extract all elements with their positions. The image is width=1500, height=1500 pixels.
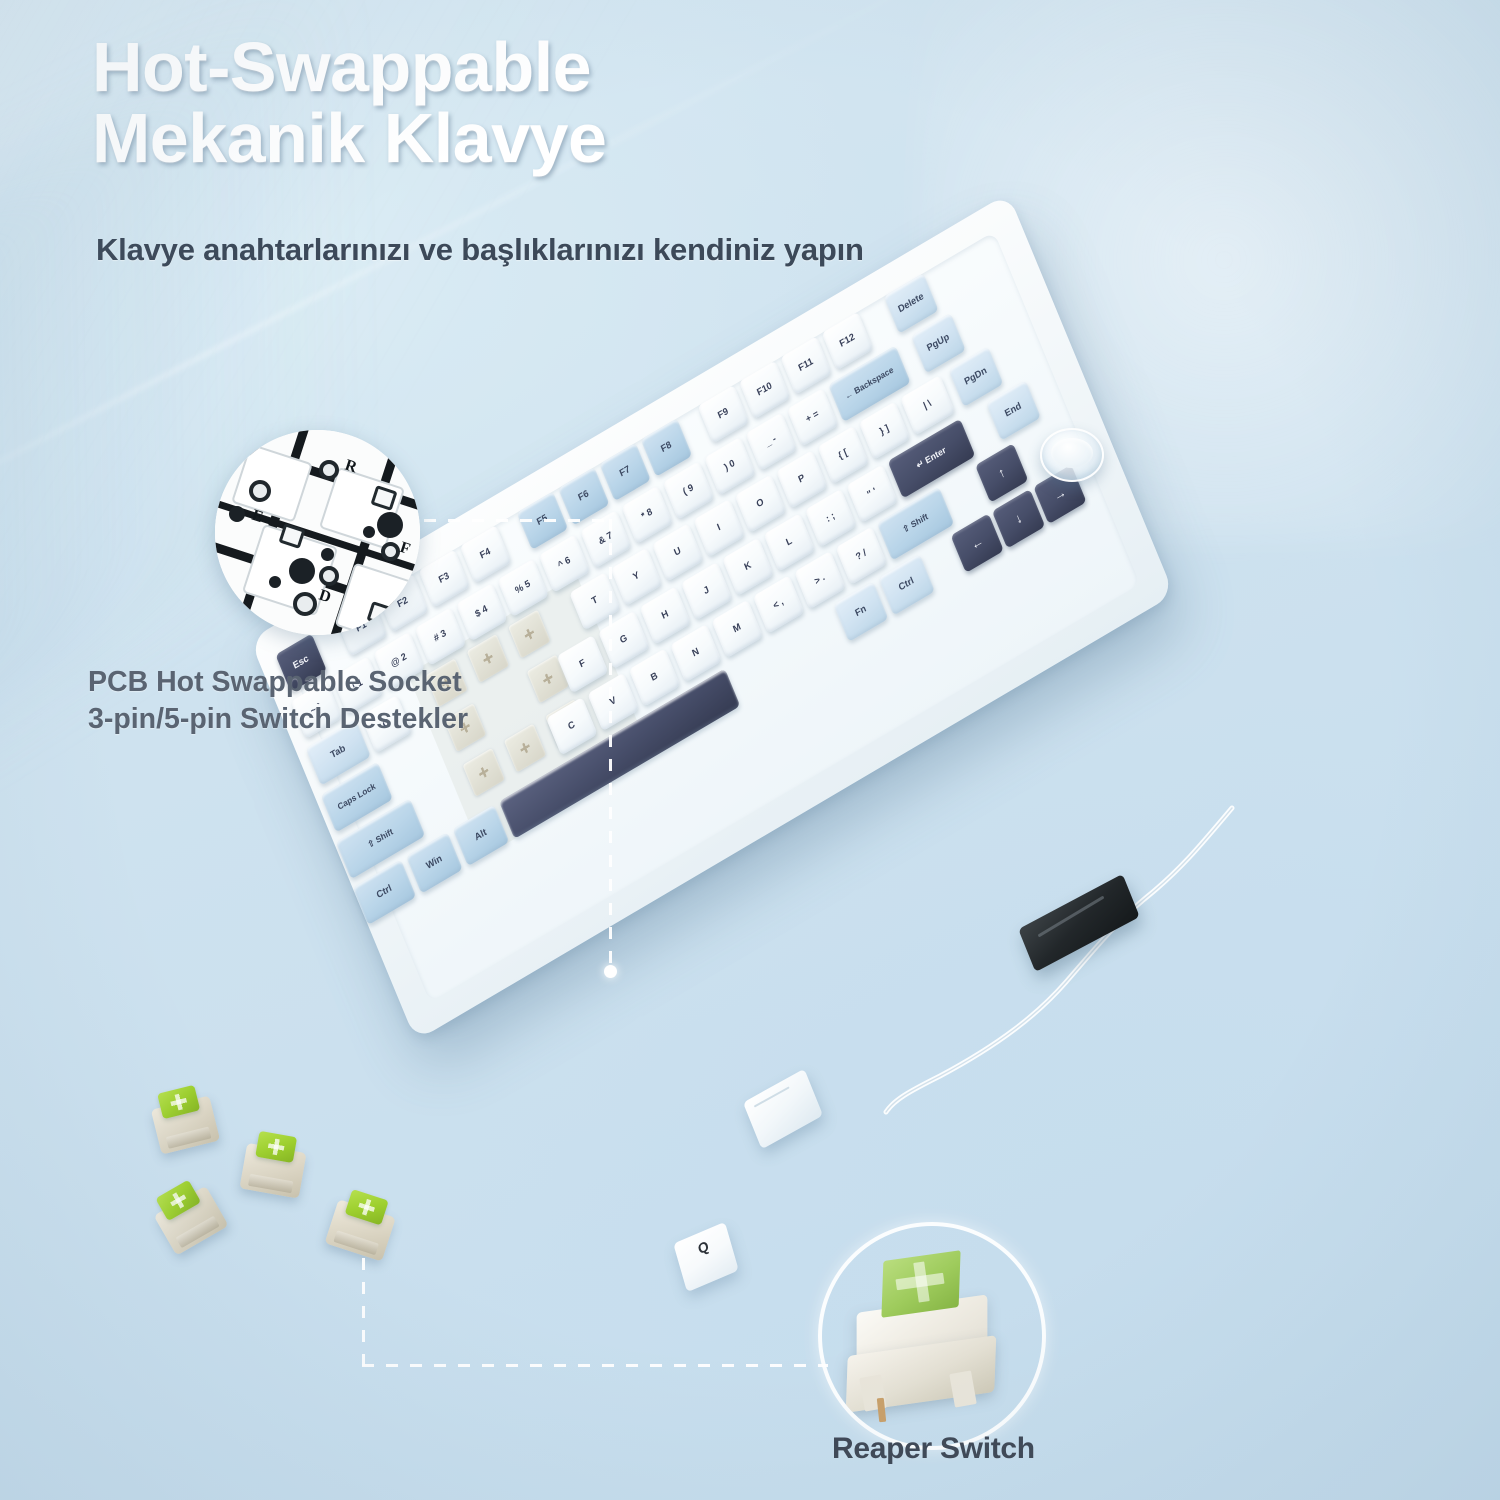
page-vignette	[0, 0, 1500, 1500]
